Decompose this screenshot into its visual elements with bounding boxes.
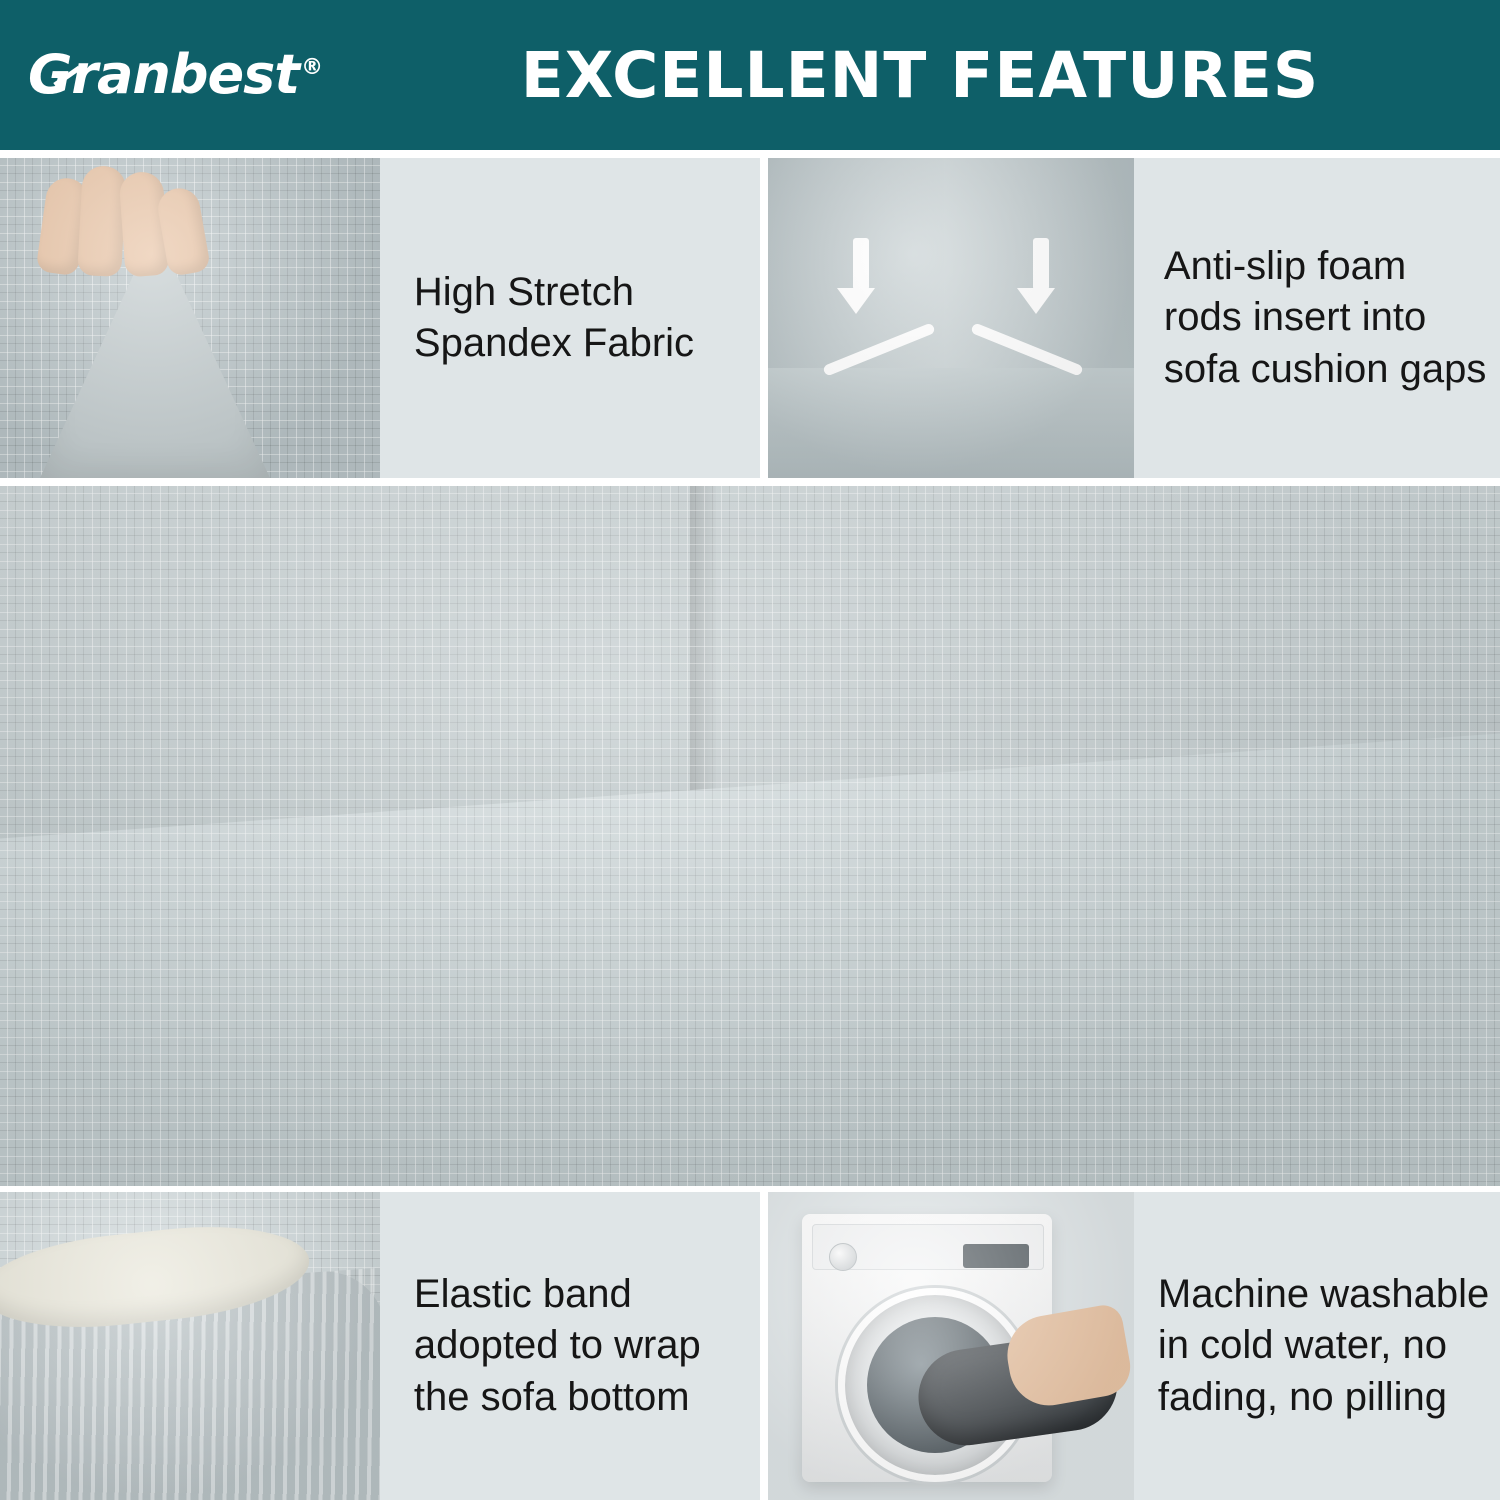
high-stretch-caption: High Stretch Spandex Fabric	[380, 158, 760, 478]
high-stretch-image	[0, 158, 380, 478]
product-feature-infographic: Granbest® EXCELLENT FEATURES High St	[0, 0, 1500, 1500]
column-divider	[760, 1192, 768, 1500]
image-sheen	[0, 1192, 380, 1500]
column-divider	[760, 158, 768, 478]
elastic-band-line-2: adopted to wrap	[414, 1323, 701, 1367]
registered-trademark-icon: ®	[301, 55, 322, 80]
elastic-band-line-1: Elastic band	[414, 1272, 632, 1316]
image-sheen	[0, 158, 380, 478]
anti-slip-foam-rods-image	[768, 158, 1134, 478]
machine-washable-caption: Machine washable in cold water, no fadin…	[1134, 1192, 1500, 1500]
machine-washable-line-1: Machine washable	[1158, 1272, 1489, 1316]
hero-sofa-cover-image	[0, 486, 1500, 1186]
anti-slip-line-1: Anti-slip foam	[1164, 244, 1406, 288]
bottom-feature-row: Elastic band adopted to wrap the sofa bo…	[0, 1192, 1500, 1500]
top-feature-row: High Stretch Spandex Fabric	[0, 158, 1500, 478]
image-sheen	[768, 1192, 1134, 1500]
image-sheen	[768, 158, 1134, 478]
hero-sheen	[0, 486, 1500, 1186]
machine-washable-image	[768, 1192, 1134, 1500]
brand-logo-text: Granbest®	[28, 48, 322, 102]
machine-washable-line-2: in cold water, no	[1158, 1323, 1447, 1367]
high-stretch-line-2: Spandex Fabric	[414, 321, 694, 365]
high-stretch-line-1: High Stretch	[414, 270, 634, 314]
anti-slip-foam-rods-caption: Anti-slip foam rods insert into sofa cus…	[1134, 158, 1500, 478]
anti-slip-line-2: rods insert into	[1164, 295, 1426, 339]
page-title: EXCELLENT FEATURES	[360, 39, 1500, 112]
elastic-band-caption: Elastic band adopted to wrap the sofa bo…	[380, 1192, 760, 1500]
machine-washable-line-3: fading, no pilling	[1158, 1375, 1447, 1419]
elastic-band-line-3: the sofa bottom	[414, 1375, 690, 1419]
elastic-band-image	[0, 1192, 380, 1500]
brand-logo: Granbest®	[0, 0, 360, 150]
anti-slip-line-3: sofa cushion gaps	[1164, 347, 1486, 391]
header-banner: Granbest® EXCELLENT FEATURES	[0, 0, 1500, 150]
